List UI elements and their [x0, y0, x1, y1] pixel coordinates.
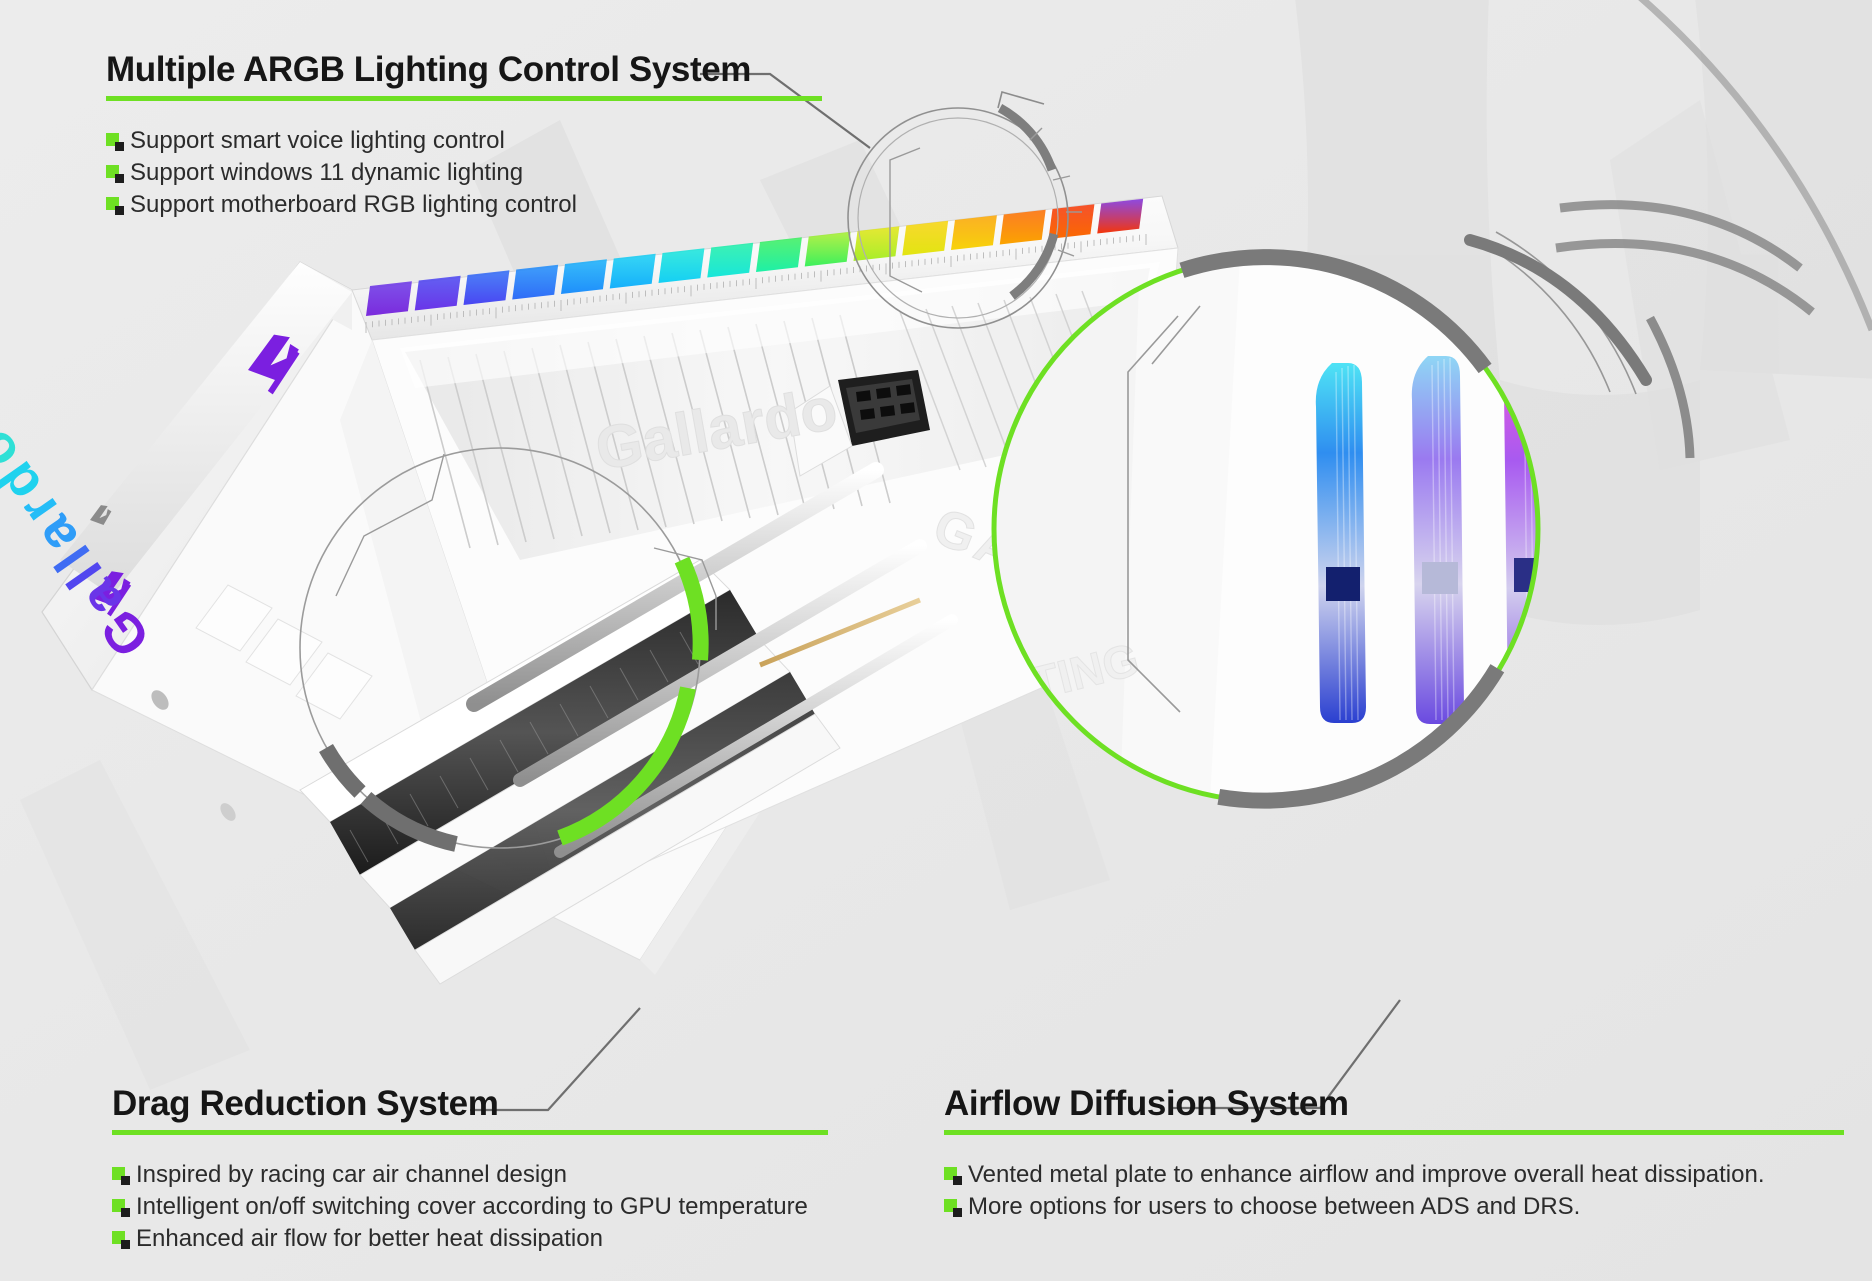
title-underline-drs	[112, 1130, 828, 1135]
section-drs: Drag Reduction System Inspired by racing…	[112, 1086, 832, 1257]
list-item: Support motherboard RGB lighting control	[106, 191, 826, 218]
bullet-marker-icon	[112, 1167, 132, 1187]
bullet-marker-icon	[106, 133, 126, 153]
bullet-text: Support windows 11 dynamic lighting	[130, 159, 523, 186]
bullet-list-argb: Support smart voice lighting control Sup…	[106, 127, 826, 218]
section-title-argb: Multiple ARGB Lighting Control System	[106, 52, 826, 89]
bullet-marker-icon	[106, 165, 126, 185]
bullet-text: Inspired by racing car air channel desig…	[136, 1161, 567, 1188]
list-item: Inspired by racing car air channel desig…	[112, 1161, 832, 1188]
bullet-marker-icon	[944, 1199, 964, 1219]
bullet-text: Intelligent on/off switching cover accor…	[136, 1193, 808, 1220]
list-item: More options for users to choose between…	[944, 1193, 1844, 1220]
bullet-marker-icon	[944, 1167, 964, 1187]
list-item: Intelligent on/off switching cover accor…	[112, 1193, 832, 1220]
bullet-list-drs: Inspired by racing car air channel desig…	[112, 1161, 832, 1252]
bullet-text: More options for users to choose between…	[968, 1193, 1580, 1220]
title-underline-ads	[944, 1130, 1844, 1135]
list-item: Support smart voice lighting control	[106, 127, 826, 154]
bullet-text: Enhanced air flow for better heat dissip…	[136, 1225, 603, 1252]
bullet-text: Support motherboard RGB lighting control	[130, 191, 577, 218]
list-item: Vented metal plate to enhance airflow an…	[944, 1161, 1844, 1188]
list-item: Support windows 11 dynamic lighting	[106, 159, 826, 186]
bullet-marker-icon	[106, 197, 126, 217]
infographic-canvas: Gallardo	[0, 0, 1872, 1281]
bullet-marker-icon	[112, 1199, 132, 1219]
title-underline-argb	[106, 96, 822, 101]
section-title-drs: Drag Reduction System	[112, 1086, 832, 1123]
section-ads: Airflow Diffusion System Vented metal pl…	[944, 1086, 1844, 1225]
bullet-marker-icon	[112, 1231, 132, 1251]
list-item: Enhanced air flow for better heat dissip…	[112, 1225, 832, 1252]
section-argb: Multiple ARGB Lighting Control System Su…	[106, 52, 826, 223]
bullet-list-ads: Vented metal plate to enhance airflow an…	[944, 1161, 1844, 1220]
bullet-text: Support smart voice lighting control	[130, 127, 505, 154]
bullet-text: Vented metal plate to enhance airflow an…	[968, 1161, 1765, 1188]
section-title-ads: Airflow Diffusion System	[944, 1086, 1844, 1123]
